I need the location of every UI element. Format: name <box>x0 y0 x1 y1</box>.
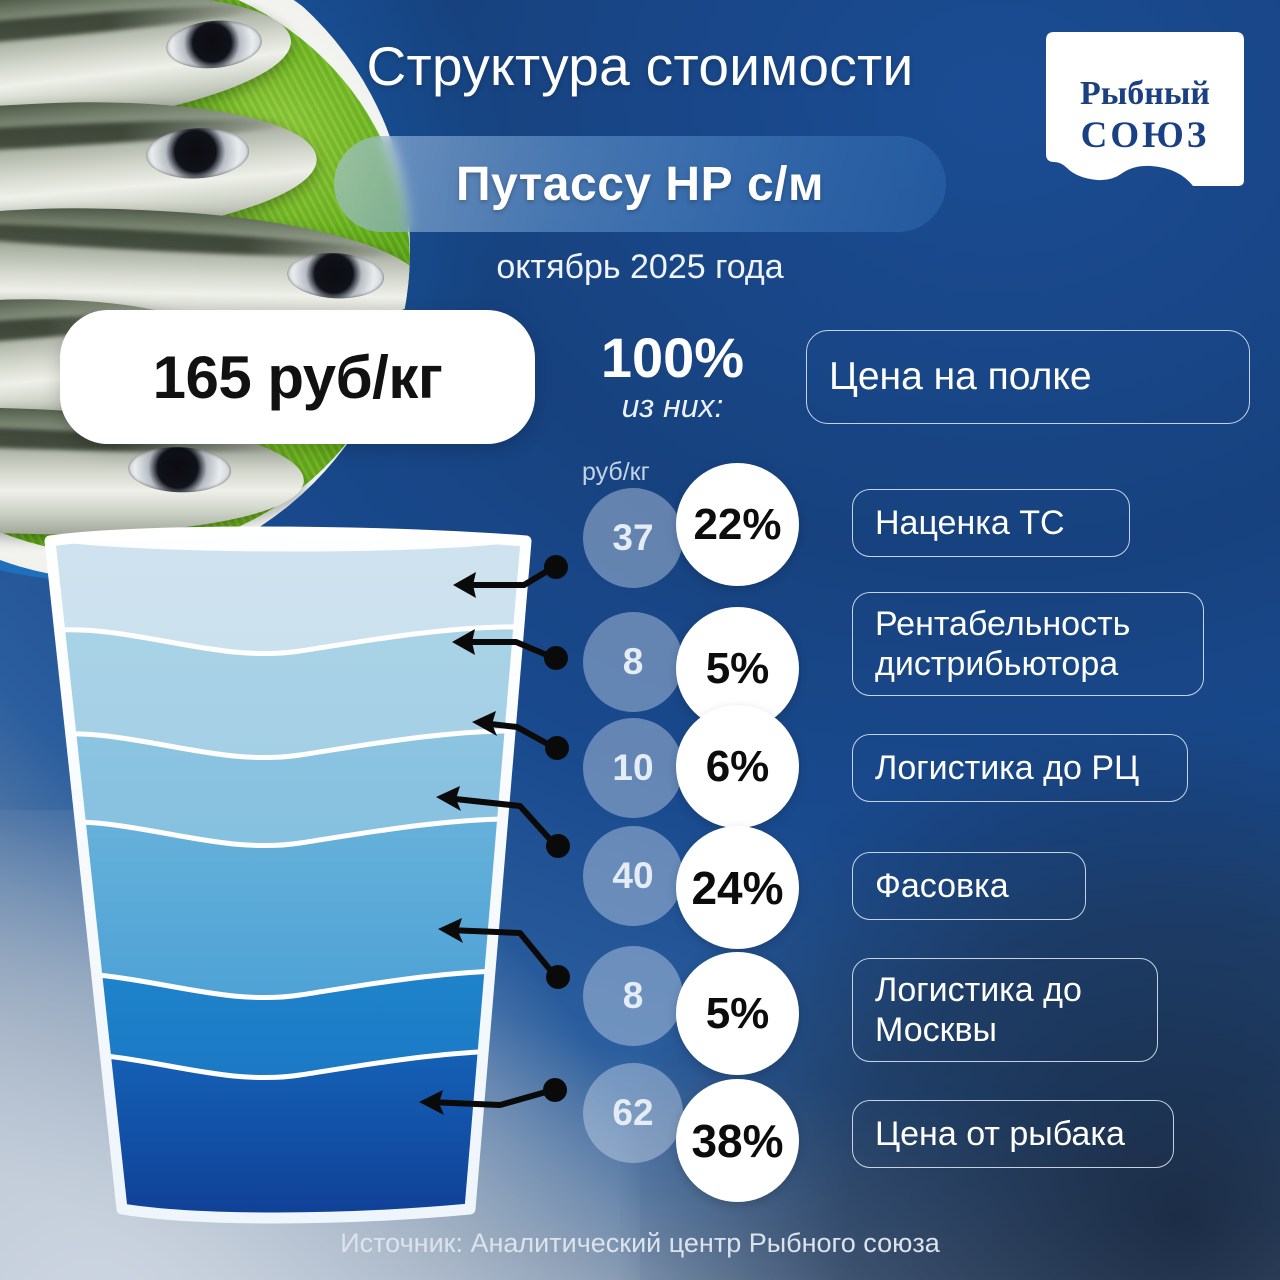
cost-component-label: Наценка ТС <box>852 489 1130 557</box>
percent-circle: 6% <box>676 705 799 828</box>
rub-value-circle: 8 <box>583 946 683 1046</box>
percent-circle: 5% <box>676 952 799 1075</box>
total-percent-block: 100% из них: <box>565 330 780 425</box>
logo: Рыбный СОЮЗ <box>1042 30 1248 212</box>
page-title: Структура стоимости <box>300 36 980 98</box>
rub-unit-label: руб/кг <box>582 458 650 487</box>
fish-eye-icon <box>128 445 233 494</box>
percent-circle: 24% <box>676 826 799 949</box>
cost-component-label: Цена от рыбака <box>852 1100 1174 1168</box>
product-name-label: Путассу НР с/м <box>456 157 824 212</box>
logo-line2: СОЮЗ <box>1081 115 1210 156</box>
source-note: Источник: Аналитический центр Рыбного со… <box>0 1228 1280 1259</box>
cost-structure-glass <box>40 525 550 1225</box>
rub-value-circle: 40 <box>583 826 683 926</box>
cost-component-label: Рентабельность дистрибьютора <box>852 592 1204 696</box>
fish-eye-icon <box>163 17 263 73</box>
cost-component-label: Логистика до РЦ <box>852 734 1188 802</box>
price-badge: 165 руб/кг <box>60 310 535 444</box>
rub-value-circle: 10 <box>583 718 683 818</box>
logo-line1: Рыбный <box>1080 75 1210 112</box>
percent-circle: 38% <box>676 1079 799 1202</box>
label-shelf-price: Цена на полке <box>806 330 1250 424</box>
label-shelf-price-text: Цена на полке <box>829 354 1092 400</box>
total-percent-value: 100% <box>565 330 780 386</box>
cost-component-label: Фасовка <box>852 852 1086 920</box>
product-name-pill: Путассу НР с/м <box>334 136 946 232</box>
rub-value-circle: 62 <box>583 1063 683 1163</box>
price-value: 165 руб/кг <box>153 343 443 412</box>
rub-value-circle: 8 <box>583 612 683 712</box>
cost-component-label: Логистика до Москвы <box>852 958 1158 1062</box>
fish-eye-icon <box>146 126 252 181</box>
total-percent-caption: из них: <box>565 388 780 425</box>
percent-circle: 22% <box>676 463 799 586</box>
rub-value-circle: 37 <box>583 488 683 588</box>
infographic-root: Структура стоимости Путассу НР с/м октяб… <box>0 0 1280 1280</box>
period-label: октябрь 2025 года <box>300 248 980 287</box>
